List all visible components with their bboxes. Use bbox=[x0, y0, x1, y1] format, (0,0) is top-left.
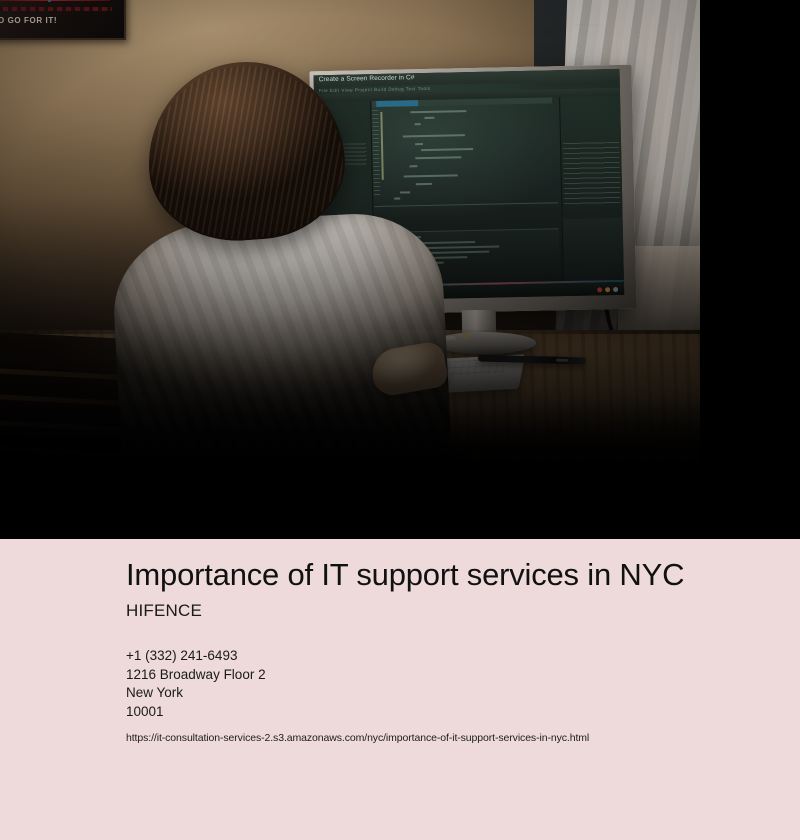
contact-phone[interactable]: +1 (332) 241-6493 bbox=[126, 647, 766, 666]
info-content: Importance of IT support services in NYC… bbox=[126, 557, 766, 745]
contact-city: New York bbox=[126, 684, 766, 703]
page-title: Importance of IT support services in NYC bbox=[126, 557, 766, 593]
hero-photo: ND GO FOR IT! Create a Screen Recorder i… bbox=[0, 0, 700, 468]
brand-name: HIFENCE bbox=[126, 602, 766, 621]
contact-block: +1 (332) 241-6493 1216 Broadway Floor 2 … bbox=[126, 647, 766, 721]
contact-zip: 10001 bbox=[126, 703, 766, 722]
foreground-shadow bbox=[0, 398, 700, 468]
source-url[interactable]: https://it-consultation-services-2.s3.am… bbox=[126, 731, 766, 745]
contact-street: 1216 Broadway Floor 2 bbox=[126, 666, 766, 685]
page-root: ND GO FOR IT! Create a Screen Recorder i… bbox=[0, 0, 800, 840]
info-panel: Importance of IT support services in NYC… bbox=[0, 539, 800, 840]
